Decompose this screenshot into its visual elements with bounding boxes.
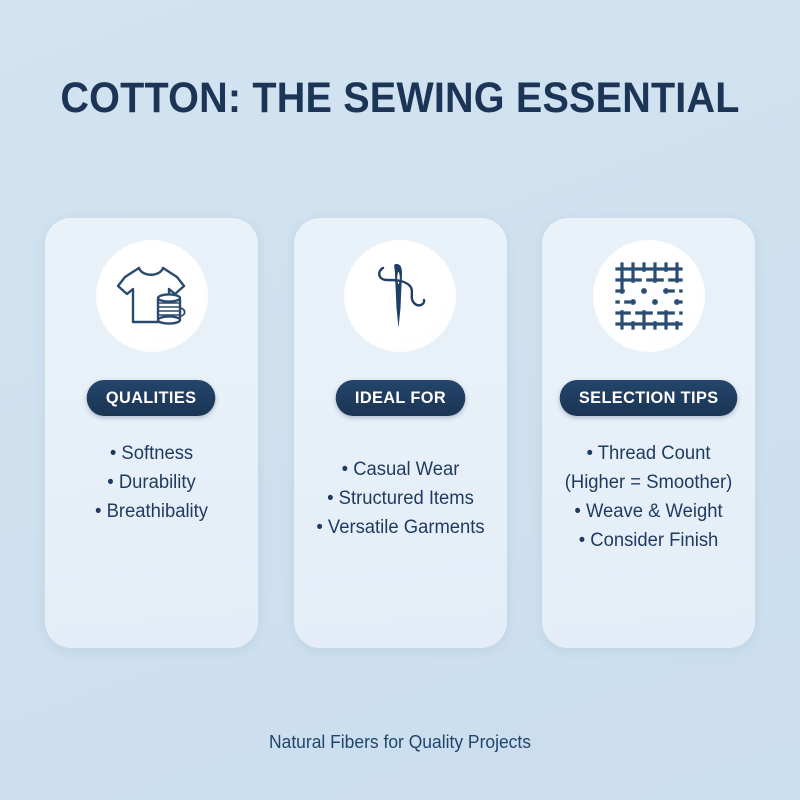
icon-circle-ideal-for [344, 240, 456, 352]
bullet-list-qualities: • Softness • Durability • Breathibality [45, 440, 258, 527]
title-container: COTTON: THE SEWING ESSENTIAL [0, 74, 800, 123]
list-item: • Structured Items [303, 485, 498, 514]
badge-ideal-for[interactable]: IDEAL FOR [335, 380, 465, 416]
card-qualities: QUALITIES • Softness • Durability • Brea… [45, 218, 258, 648]
card-ideal-for: IDEAL FOR • Casual Wear • Structured Ite… [294, 218, 507, 648]
cards-row: QUALITIES • Softness • Durability • Brea… [45, 218, 755, 648]
list-item: • Weave & Weight [551, 498, 746, 527]
list-item: • Softness [54, 440, 249, 469]
card-selection-tips: SELECTION TIPS • Thread Count (Higher = … [542, 218, 755, 648]
icon-circle-selection-tips [593, 240, 705, 352]
bullet-list-selection-tips: • Thread Count (Higher = Smoother) • Wea… [542, 440, 755, 556]
woven-fabric-grid-icon [613, 260, 685, 332]
list-item: (Higher = Smoother) [551, 469, 746, 498]
list-item: • Breathibality [54, 498, 249, 527]
icon-circle-qualities [96, 240, 208, 352]
badge-selection-tips[interactable]: SELECTION TIPS [560, 380, 738, 416]
footer-tagline: Natural Fibers for Quality Projects [12, 732, 788, 753]
bullet-list-ideal-for: • Casual Wear • Structured Items • Versa… [294, 456, 507, 543]
list-item: • Versatile Garments [303, 514, 498, 543]
infographic-poster: COTTON: THE SEWING ESSENTIAL [0, 0, 800, 800]
list-item: • Casual Wear [303, 456, 498, 485]
badge-qualities[interactable]: QUALITIES [87, 380, 216, 416]
list-item: • Thread Count [551, 440, 746, 469]
sewing-needle-and-thread-icon [365, 256, 435, 336]
list-item: • Consider Finish [551, 527, 746, 556]
page-title: COTTON: THE SEWING ESSENTIAL [32, 74, 768, 123]
tshirt-and-thread-spool-icon [113, 260, 191, 332]
list-item: • Durability [54, 469, 249, 498]
